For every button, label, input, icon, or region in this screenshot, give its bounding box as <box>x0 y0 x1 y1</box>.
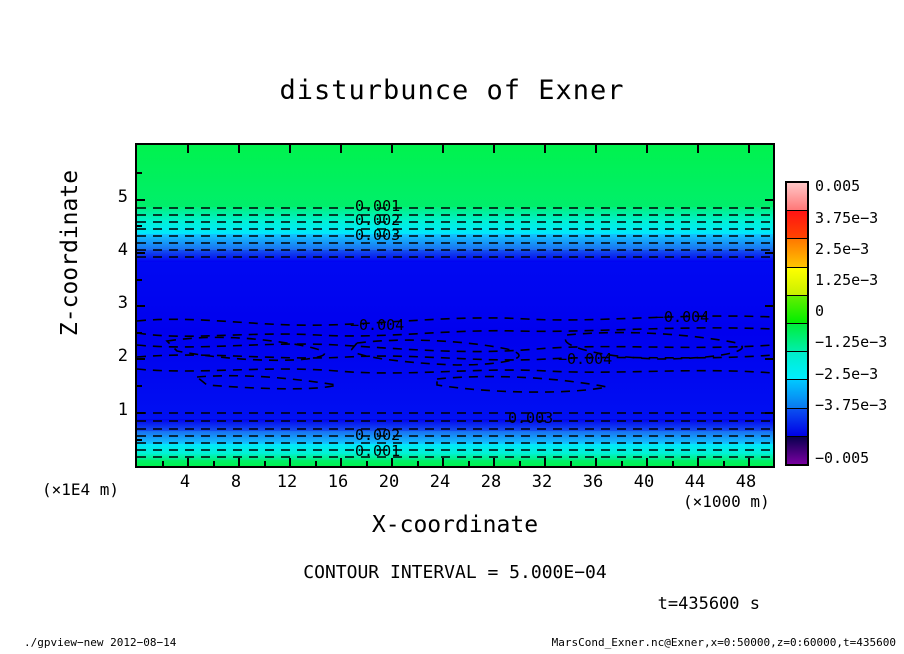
x-tick-label: 16 <box>328 472 348 492</box>
x-tick-40 <box>646 458 648 466</box>
colorbar-label: −2.5e−3 <box>815 365 878 383</box>
x-tick-top-32 <box>544 145 546 153</box>
colorbar-band-blue <box>787 409 807 437</box>
z-tick-right-2 <box>765 358 773 360</box>
z-tick-label: 3 <box>110 293 128 313</box>
x-tick-top-24 <box>442 145 444 153</box>
x-tick-top-8 <box>238 145 240 153</box>
x-tick-top-48 <box>748 145 750 153</box>
colorbar-label: 3.75e−3 <box>815 209 878 227</box>
x-tick-label: 40 <box>634 472 654 492</box>
x-tick-label: 12 <box>277 472 297 492</box>
x-tick-12 <box>289 458 291 466</box>
z-tick-minor-2_5 <box>137 332 142 334</box>
z-tick-2 <box>137 358 145 360</box>
z-tick-3 <box>137 305 145 307</box>
x-tick-minor-46 <box>723 461 725 466</box>
x-tick-minor-2 <box>162 461 164 466</box>
colorbar-label: 0 <box>815 302 824 320</box>
colorbar-band-green <box>787 296 807 324</box>
z-axis-unit: (×1E4 m) <box>42 480 119 499</box>
colorbar-band-orange <box>787 239 807 267</box>
contour-label: 0.003 <box>508 409 553 427</box>
contour-label: −0.004 <box>350 316 404 334</box>
x-tick-top-40 <box>646 145 648 153</box>
z-tick-right-4 <box>765 252 773 254</box>
x-tick-4 <box>187 458 189 466</box>
x-tick-top-4 <box>187 145 189 153</box>
x-tick-label: 44 <box>685 472 705 492</box>
x-tick-label: 24 <box>430 472 450 492</box>
x-tick-top-20 <box>391 145 393 153</box>
x-tick-label: 4 <box>180 472 190 492</box>
z-tick-minor-5_5 <box>137 172 142 174</box>
x-tick-minor-38 <box>621 461 623 466</box>
z-tick-4 <box>137 252 145 254</box>
x-axis-title: X-coordinate <box>135 512 775 538</box>
contour-field <box>137 145 773 466</box>
contour-label: −0.004 <box>558 350 612 368</box>
x-tick-top-36 <box>595 145 597 153</box>
x-tick-top-16 <box>340 145 342 153</box>
z-tick-label: 4 <box>110 240 128 260</box>
x-tick-32 <box>544 458 546 466</box>
z-tick-minor-3_5 <box>137 279 142 281</box>
colorbar-label: 2.5e−3 <box>815 240 869 258</box>
x-axis-unit: (×1000 m) <box>683 492 770 511</box>
colorbar-label: 1.25e−3 <box>815 271 878 289</box>
colorbar-band-springgreen <box>787 324 807 352</box>
x-tick-top-44 <box>697 145 699 153</box>
contour-plot-area <box>135 143 775 468</box>
x-tick-top-28 <box>493 145 495 153</box>
z-tick-label: 5 <box>110 187 128 207</box>
x-tick-28 <box>493 458 495 466</box>
x-tick-minor-34 <box>570 461 572 466</box>
x-tick-8 <box>238 458 240 466</box>
colorbar-band-cyan <box>787 352 807 380</box>
z-tick-minor-1_5 <box>137 385 142 387</box>
x-tick-minor-14 <box>315 461 317 466</box>
colorbar-band-violet <box>787 437 807 464</box>
x-tick-36 <box>595 458 597 466</box>
x-tick-top-12 <box>289 145 291 153</box>
x-tick-label: 28 <box>481 472 501 492</box>
x-tick-16 <box>340 458 342 466</box>
z-tick-right-3 <box>765 305 773 307</box>
colorbar-band-pink <box>787 183 807 211</box>
z-tick-5 <box>137 199 145 201</box>
z-axis-title: Z-coordinate <box>57 153 83 353</box>
x-tick-48 <box>748 458 750 466</box>
data-source-label: MarsCond_Exner.nc@Exner,x=0:50000,z=0:60… <box>0 636 896 649</box>
page-title: disturbunce of Exner <box>0 75 904 106</box>
x-tick-minor-26 <box>468 461 470 466</box>
contour-field-svg <box>137 145 773 466</box>
z-tick-minor-4_5 <box>137 225 142 227</box>
colorbar-label: −1.25e−3 <box>815 333 887 351</box>
x-tick-label: 36 <box>583 472 603 492</box>
z-tick-label: 1 <box>110 400 128 420</box>
time-label: t=435600 s <box>0 594 760 614</box>
colorbar-band-yellow <box>787 268 807 296</box>
x-tick-44 <box>697 458 699 466</box>
z-tick-label: 2 <box>110 346 128 366</box>
contour-label: 0.001 <box>355 442 400 460</box>
colorbar-label: 0.005 <box>815 177 860 195</box>
colorbar-band-red <box>787 211 807 239</box>
contour-label: −0.004 <box>655 308 709 326</box>
x-tick-minor-42 <box>672 461 674 466</box>
colorbar-label: −3.75e−3 <box>815 396 887 414</box>
contour-label: 0.003 <box>355 226 400 244</box>
x-tick-minor-22 <box>417 461 419 466</box>
x-tick-label: 48 <box>736 472 756 492</box>
contour-interval-label: CONTOUR INTERVAL = 5.000E−04 <box>135 562 775 583</box>
colorbar-label: −0.005 <box>815 449 869 467</box>
x-tick-label: 8 <box>231 472 241 492</box>
colorbar-band-skyblue <box>787 380 807 408</box>
z-tick-right-5 <box>765 199 773 201</box>
x-tick-label: 32 <box>532 472 552 492</box>
z-tick-1 <box>137 412 145 414</box>
z-tick-right-1 <box>765 412 773 414</box>
x-tick-minor-6 <box>213 461 215 466</box>
x-tick-minor-30 <box>519 461 521 466</box>
x-tick-label: 20 <box>379 472 399 492</box>
colorbar <box>785 181 809 466</box>
x-tick-24 <box>442 458 444 466</box>
z-tick-minor-0_5 <box>137 439 142 441</box>
x-tick-minor-18 <box>366 461 368 466</box>
x-tick-minor-10 <box>264 461 266 466</box>
